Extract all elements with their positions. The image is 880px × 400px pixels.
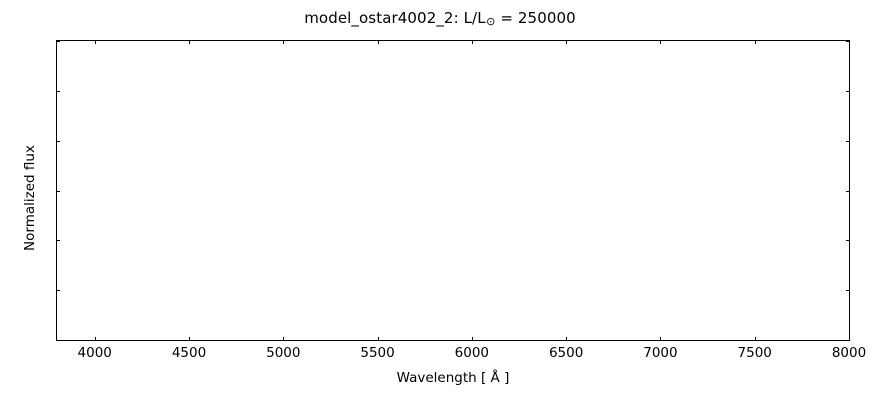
plot-axes <box>56 40 850 341</box>
x-tick-mark <box>660 40 661 44</box>
y-tick-mark <box>56 91 60 92</box>
y-tick-mark <box>56 290 60 291</box>
y-tick-mark <box>56 141 60 142</box>
x-tick-mark <box>566 337 567 341</box>
x-tick-mark <box>189 337 190 341</box>
spectrum-line-series <box>57 41 849 340</box>
x-tick-label: 4500 <box>172 345 206 361</box>
x-tick-mark <box>472 40 473 44</box>
x-tick-label: 7000 <box>643 345 677 361</box>
plot-title-suffix: = 250000 <box>496 9 576 27</box>
x-tick-label: 4000 <box>78 345 112 361</box>
y-tick-mark <box>56 191 60 192</box>
y-tick-mark <box>56 240 60 241</box>
x-tick-mark <box>189 40 190 44</box>
y-tick-mark <box>846 191 850 192</box>
x-tick-mark <box>283 40 284 44</box>
x-tick-mark <box>378 337 379 341</box>
x-tick-mark <box>566 40 567 44</box>
y-tick-mark <box>846 91 850 92</box>
y-tick-mark <box>56 41 60 42</box>
x-tick-mark <box>283 337 284 341</box>
figure-canvas: model_ostar4002_2: L/L⊙ = 250000 0.40.50… <box>0 0 880 400</box>
y-tick-mark <box>56 340 60 341</box>
plot-title: model_ostar4002_2: L/L⊙ = 250000 <box>0 9 880 28</box>
x-tick-mark <box>849 337 850 341</box>
x-tick-mark <box>755 40 756 44</box>
x-tick-label: 5000 <box>266 345 300 361</box>
plot-title-prefix: model_ostar4002_2: L/L <box>304 9 485 27</box>
x-tick-mark <box>849 40 850 44</box>
x-tick-label: 6500 <box>549 345 583 361</box>
x-tick-label: 6000 <box>455 345 489 361</box>
x-tick-mark <box>378 40 379 44</box>
x-tick-mark <box>755 337 756 341</box>
y-tick-mark <box>846 290 850 291</box>
x-tick-mark <box>472 337 473 341</box>
x-tick-mark <box>95 40 96 44</box>
x-tick-mark <box>660 337 661 341</box>
sun-symbol-icon: ⊙ <box>486 15 496 28</box>
y-tick-mark <box>846 141 850 142</box>
x-tick-label: 5500 <box>360 345 394 361</box>
y-tick-mark <box>846 240 850 241</box>
x-axis-label: Wavelength [ Å ] <box>56 370 850 386</box>
y-axis-label: Normalized flux <box>22 98 38 298</box>
x-tick-label: 7500 <box>738 345 772 361</box>
x-tick-mark <box>95 337 96 341</box>
x-tick-label: 8000 <box>832 345 866 361</box>
